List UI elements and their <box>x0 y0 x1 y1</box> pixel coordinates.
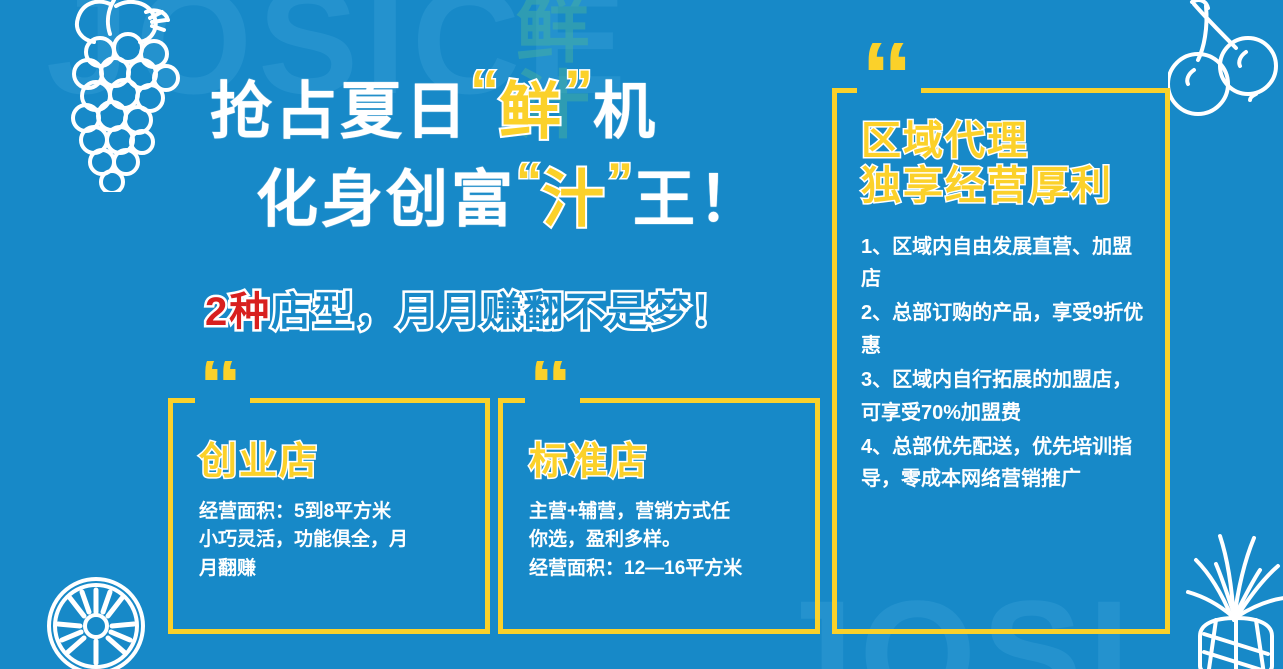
headline-l2-accent: 汁 <box>542 166 607 235</box>
card-body-line: 小巧灵活，功能俱全，月 <box>199 526 461 555</box>
card-body-line: 主营+辅营，营销方式任 <box>529 498 791 527</box>
headline-l1-seg2: 机 <box>593 78 658 147</box>
card-body-line: 月翻赚 <box>199 555 461 584</box>
agent-panel-title-line1: 区域代理 <box>861 119 1165 164</box>
subheadline-highlight: 2种 <box>205 290 271 334</box>
benefit-item: 3、区域内自行拓展的加盟店，可享受70%加盟费 <box>861 364 1145 429</box>
benefit-item: 2、总部订购的产品，享受9折优惠 <box>861 297 1145 362</box>
quote-mark-icon: “ <box>525 361 580 419</box>
headline-l2-seg2: 王！ <box>633 166 763 235</box>
headline-l1-closequote: ” <box>564 59 593 124</box>
card-body-standard: 主营+辅营，营销方式任 你选，盈利多样。 经营面积：12—16平方米 <box>529 498 791 584</box>
cherries-illustration <box>1168 0 1283 124</box>
headline: 抢占夏日“鲜”机 化身创富“汁”王！ <box>200 62 840 233</box>
headline-l1-seg1: 抢占夏日 <box>210 78 470 147</box>
headline-l1-accent: 鲜 <box>499 78 564 147</box>
agent-panel-title-line2: 独享经营厚利 <box>861 164 1165 209</box>
quote-mark-icon: “ <box>195 361 250 419</box>
benefit-item: 1、区域内自由发展直营、加盟店 <box>861 231 1145 296</box>
subheadline-rest: 店型，月月赚翻不是梦！ <box>271 290 733 334</box>
headline-l2-seg1: 化身创富 <box>256 166 516 235</box>
headline-line-1: 抢占夏日“鲜”机 <box>200 62 840 145</box>
subheadline: 2种店型，月月赚翻不是梦！ <box>205 292 733 332</box>
benefit-item: 4、总部优先配送，优先培训指导，零成本网络营销推广 <box>861 431 1145 496</box>
pineapple-illustration <box>1182 516 1283 669</box>
store-type-card-startup: “ 创业店 经营面积：5到8平方米 小巧灵活，功能俱全，月 月翻赚 <box>168 398 490 634</box>
headline-l1-openquote: “ <box>470 59 499 124</box>
card-title-standard: 标准店 <box>529 441 815 484</box>
card-body-line: 经营面积：12—16平方米 <box>529 555 791 584</box>
headline-l2-closequote: ” <box>607 153 633 211</box>
promo-poster: JOSICE JOSI 鲜汁 <box>0 0 1283 669</box>
card-body-line: 经营面积：5到8平方米 <box>199 498 461 527</box>
headline-l2-openquote: “ <box>516 153 542 211</box>
kiwi-illustration <box>38 568 158 669</box>
regional-agent-panel: “ 区域代理 独享经营厚利 1、区域内自由发展直营、加盟店 2、总部订购的产品，… <box>832 88 1170 634</box>
agent-panel-benefits: 1、区域内自由发展直营、加盟店 2、总部订购的产品，享受9折优惠 3、区域内自行… <box>861 231 1145 496</box>
grapes-illustration <box>38 0 218 192</box>
store-type-card-standard: “ 标准店 主营+辅营，营销方式任 你选，盈利多样。 经营面积：12—16平方米 <box>498 398 820 634</box>
quote-mark-icon: “ <box>857 43 921 115</box>
headline-line-2: 化身创富“汁”王！ <box>200 155 840 233</box>
agent-panel-title: 区域代理 独享经营厚利 <box>861 119 1165 209</box>
card-body-startup: 经营面积：5到8平方米 小巧灵活，功能俱全，月 月翻赚 <box>199 498 461 584</box>
card-body-line: 你选，盈利多样。 <box>529 526 791 555</box>
card-title-startup: 创业店 <box>199 441 485 484</box>
